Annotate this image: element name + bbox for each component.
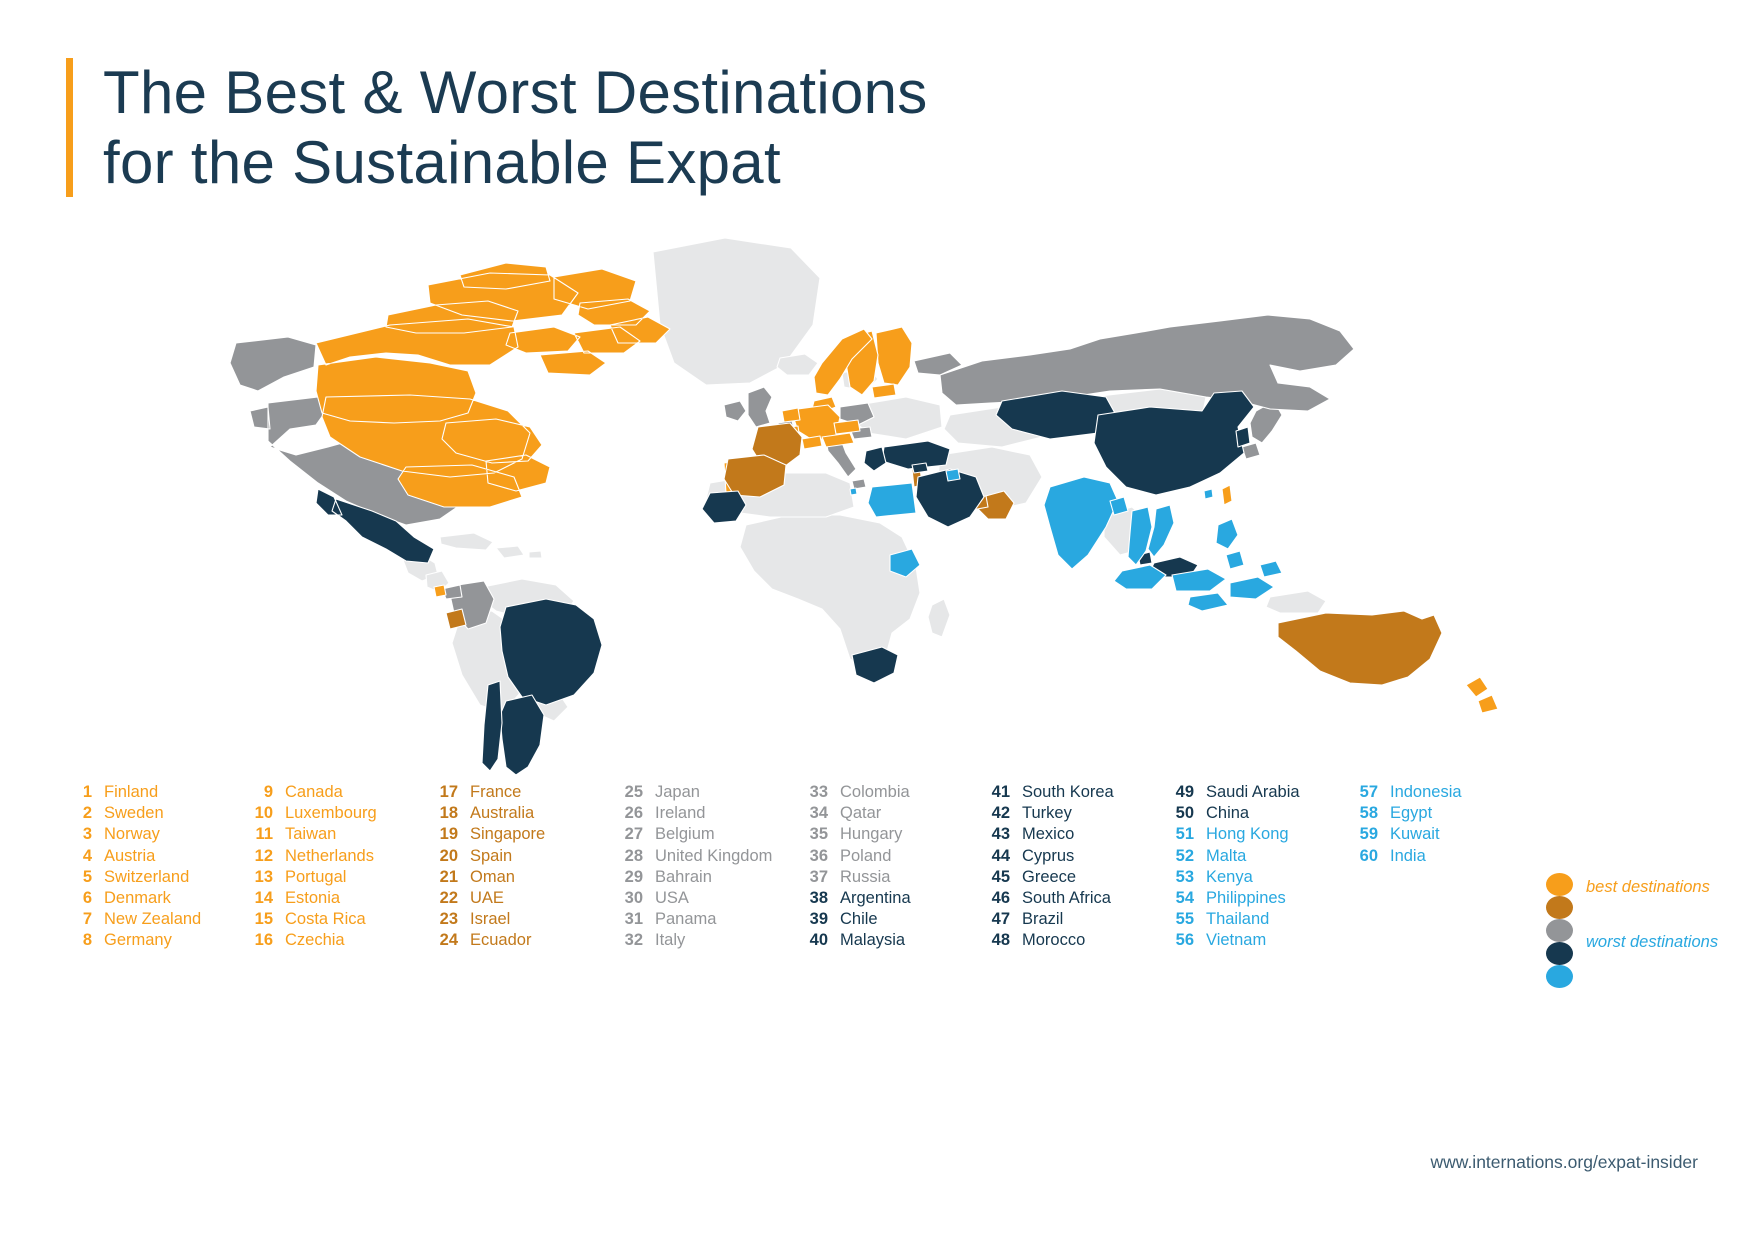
ranking-row[interactable]: 44Cyprus bbox=[984, 846, 1114, 867]
ranking-country-name: Spain bbox=[470, 846, 512, 867]
ranking-country-name: Israel bbox=[470, 909, 510, 930]
country-czechia bbox=[834, 420, 860, 434]
tier-worst-dot bbox=[1546, 965, 1573, 988]
ranking-row[interactable]: 19Singapore bbox=[432, 824, 545, 845]
ranking-number: 13 bbox=[247, 867, 273, 888]
ranking-row[interactable]: 14Estonia bbox=[247, 888, 377, 909]
ranking-number: 15 bbox=[247, 909, 273, 930]
ranking-number: 21 bbox=[432, 867, 458, 888]
country-puerto-rico bbox=[529, 551, 542, 558]
ranking-row[interactable]: 55Thailand bbox=[1168, 909, 1300, 930]
world-choropleth-map bbox=[150, 215, 1610, 775]
tier-bad-dot bbox=[1546, 942, 1573, 965]
ranking-column-4: 25Japan26Ireland27Belgium28United Kingdo… bbox=[617, 782, 772, 952]
ranking-country-name: Kuwait bbox=[1390, 824, 1440, 845]
ranking-country-name: France bbox=[470, 782, 521, 803]
country-vietnam bbox=[1148, 505, 1174, 557]
ranking-country-name: Philippines bbox=[1206, 888, 1286, 909]
ranking-number: 53 bbox=[1168, 867, 1194, 888]
country-cyprus bbox=[912, 463, 928, 473]
ranking-row[interactable]: 52Malta bbox=[1168, 846, 1300, 867]
ranking-number: 10 bbox=[247, 803, 273, 824]
ranking-column-7: 49Saudi Arabia50China51Hong Kong52Malta5… bbox=[1168, 782, 1300, 952]
ranking-country-name: Argentina bbox=[840, 888, 911, 909]
ranking-country-name: Luxembourg bbox=[285, 803, 377, 824]
ranking-number: 22 bbox=[432, 888, 458, 909]
ranking-row[interactable]: 21Oman bbox=[432, 867, 545, 888]
ranking-country-name: Italy bbox=[655, 930, 685, 951]
ranking-row[interactable]: 32Italy bbox=[617, 930, 772, 951]
ranking-number: 54 bbox=[1168, 888, 1194, 909]
ranking-number: 7 bbox=[66, 909, 92, 930]
ranking-row[interactable]: 33Colombia bbox=[802, 782, 911, 803]
ranking-country-name: Costa Rica bbox=[285, 909, 366, 930]
ranking-country-name: Netherlands bbox=[285, 846, 374, 867]
country-africa-unranked bbox=[740, 515, 920, 669]
ranking-row[interactable]: 18Australia bbox=[432, 803, 545, 824]
ranking-row[interactable]: 40Malaysia bbox=[802, 930, 911, 951]
ranking-number: 12 bbox=[247, 846, 273, 867]
ranking-row[interactable]: 57Indonesia bbox=[1352, 782, 1462, 803]
ranking-number: 58 bbox=[1352, 803, 1378, 824]
ranking-number: 5 bbox=[66, 867, 92, 888]
ranking-number: 31 bbox=[617, 909, 643, 930]
ranking-row[interactable]: 53Kenya bbox=[1168, 867, 1300, 888]
ranking-country-name: Malta bbox=[1206, 846, 1246, 867]
country-united-kingdom bbox=[748, 387, 772, 427]
ranking-number: 51 bbox=[1168, 824, 1194, 845]
ranking-number: 35 bbox=[802, 824, 828, 845]
ranking-number: 60 bbox=[1352, 846, 1378, 867]
ranking-country-name: South Korea bbox=[1022, 782, 1114, 803]
ranking-number: 48 bbox=[984, 930, 1010, 951]
country-switzerland bbox=[802, 436, 822, 449]
country-netherlands bbox=[782, 408, 800, 422]
ranking-row[interactable]: 22UAE bbox=[432, 888, 545, 909]
legend-dot-stack bbox=[1546, 873, 1574, 988]
ranking-row[interactable]: 37Russia bbox=[802, 867, 911, 888]
country-finland bbox=[876, 327, 912, 385]
ranking-row[interactable]: 31Panama bbox=[617, 909, 772, 930]
legend-label-worst: worst destinations bbox=[1586, 933, 1718, 952]
ranking-row[interactable]: 54Philippines bbox=[1168, 888, 1300, 909]
ranking-number: 41 bbox=[984, 782, 1010, 803]
ranking-row[interactable]: 41South Korea bbox=[984, 782, 1114, 803]
country-greece bbox=[864, 447, 886, 471]
ranking-country-name: Switzerland bbox=[104, 867, 189, 888]
ranking-country-name: Ecuador bbox=[470, 930, 531, 951]
ranking-column-2: 9Canada10Luxembourg11Taiwan12Netherlands… bbox=[247, 782, 377, 952]
country-egypt bbox=[868, 483, 916, 517]
ranking-number: 55 bbox=[1168, 909, 1194, 930]
ranking-number: 42 bbox=[984, 803, 1010, 824]
ranking-row[interactable]: 43Mexico bbox=[984, 824, 1114, 845]
ranking-number: 33 bbox=[802, 782, 828, 803]
ranking-country-name: Sweden bbox=[104, 803, 164, 824]
ranking-country-name: Brazil bbox=[1022, 909, 1063, 930]
ranking-country-name: Vietnam bbox=[1206, 930, 1266, 951]
ranking-number: 32 bbox=[617, 930, 643, 951]
ranking-country-name: Singapore bbox=[470, 824, 545, 845]
ranking-number: 29 bbox=[617, 867, 643, 888]
ranking-number: 56 bbox=[1168, 930, 1194, 951]
ranking-country-name: Turkey bbox=[1022, 803, 1072, 824]
country-philippines bbox=[1216, 519, 1244, 569]
ranking-country-name: United Kingdom bbox=[655, 846, 772, 867]
ranking-country-name: Hungary bbox=[840, 824, 902, 845]
ranking-number: 40 bbox=[802, 930, 828, 951]
ranking-row[interactable]: 1Finland bbox=[66, 782, 201, 803]
ranking-row[interactable]: 8Germany bbox=[66, 930, 201, 951]
ranking-row[interactable]: 4Austria bbox=[66, 846, 201, 867]
ranking-country-name: Poland bbox=[840, 846, 891, 867]
tier-good-dot bbox=[1546, 896, 1573, 919]
country-iceland bbox=[777, 354, 818, 375]
ranking-country-name: Japan bbox=[655, 782, 700, 803]
ranking-country-name: Oman bbox=[470, 867, 515, 888]
ranking-number: 38 bbox=[802, 888, 828, 909]
ranking-row[interactable]: 10Luxembourg bbox=[247, 803, 377, 824]
country-cuba bbox=[440, 533, 493, 550]
country-ecuador bbox=[446, 609, 466, 629]
ranking-country-name: Germany bbox=[104, 930, 172, 951]
ranking-country-name: Thailand bbox=[1206, 909, 1269, 930]
ranking-row[interactable]: 51Hong Kong bbox=[1168, 824, 1300, 845]
ranking-country-name: Malaysia bbox=[840, 930, 905, 951]
ranking-country-name: Hong Kong bbox=[1206, 824, 1289, 845]
ranking-column-3: 17France18Australia19Singapore20Spain21O… bbox=[432, 782, 545, 952]
ranking-country-name: India bbox=[1390, 846, 1426, 867]
world-map-container bbox=[150, 215, 1610, 775]
ranking-country-name: Qatar bbox=[840, 803, 881, 824]
country-costa-rica bbox=[434, 585, 446, 597]
country-madagascar bbox=[928, 599, 950, 637]
ranking-row[interactable]: 23Israel bbox=[432, 909, 545, 930]
ranking-number: 36 bbox=[802, 846, 828, 867]
ranking-row[interactable]: 13Portugal bbox=[247, 867, 377, 888]
country-taiwan bbox=[1222, 485, 1232, 505]
country-australia bbox=[1278, 611, 1442, 685]
ranking-country-name: Chile bbox=[840, 909, 878, 930]
ranking-number: 25 bbox=[617, 782, 643, 803]
ranking-country-name: Greece bbox=[1022, 867, 1076, 888]
ranking-number: 43 bbox=[984, 824, 1010, 845]
ranking-row[interactable]: 16Czechia bbox=[247, 930, 377, 951]
ranking-row[interactable]: 11Taiwan bbox=[247, 824, 377, 845]
ranking-row[interactable]: 45Greece bbox=[984, 867, 1114, 888]
ranking-row[interactable]: 20Spain bbox=[432, 846, 545, 867]
ranking-country-name: Canada bbox=[285, 782, 343, 803]
ranking-country-name: Belgium bbox=[655, 824, 715, 845]
tier-mid-dot bbox=[1546, 919, 1573, 942]
ranking-number: 37 bbox=[802, 867, 828, 888]
country-argentina bbox=[500, 695, 544, 775]
ranking-country-name: Russia bbox=[840, 867, 890, 888]
country-hong-kong bbox=[1204, 489, 1213, 499]
ranking-country-name: Australia bbox=[470, 803, 534, 824]
ranking-number: 6 bbox=[66, 888, 92, 909]
ranking-number: 14 bbox=[247, 888, 273, 909]
country-usa-alaska bbox=[230, 337, 316, 391]
ranking-number: 18 bbox=[432, 803, 458, 824]
ranking-country-name: Egypt bbox=[1390, 803, 1432, 824]
ranking-number: 44 bbox=[984, 846, 1010, 867]
country-bangladesh bbox=[1110, 497, 1128, 515]
ranking-number: 23 bbox=[432, 909, 458, 930]
ranking-list: 1Finland2Sweden3Norway4Austria5Switzerla… bbox=[0, 782, 1754, 962]
ranking-country-name: Indonesia bbox=[1390, 782, 1462, 803]
ranking-number: 39 bbox=[802, 909, 828, 930]
map-legend: best destinations worst destinations bbox=[1546, 873, 1746, 957]
ranking-country-name: Portugal bbox=[285, 867, 346, 888]
ranking-column-5: 33Colombia34Qatar35Hungary36Poland37Russ… bbox=[802, 782, 911, 952]
ranking-number: 20 bbox=[432, 846, 458, 867]
ranking-row[interactable]: 29Bahrain bbox=[617, 867, 772, 888]
ranking-row[interactable]: 24Ecuador bbox=[432, 930, 545, 951]
ranking-country-name: USA bbox=[655, 888, 689, 909]
ranking-number: 4 bbox=[66, 846, 92, 867]
ranking-row[interactable]: 39Chile bbox=[802, 909, 911, 930]
ranking-number: 52 bbox=[1168, 846, 1194, 867]
ranking-number: 24 bbox=[432, 930, 458, 951]
ranking-number: 28 bbox=[617, 846, 643, 867]
ranking-number: 34 bbox=[802, 803, 828, 824]
ranking-number: 59 bbox=[1352, 824, 1378, 845]
country-morocco bbox=[702, 491, 746, 523]
ranking-row[interactable]: 15Costa Rica bbox=[247, 909, 377, 930]
ranking-country-name: Bahrain bbox=[655, 867, 712, 888]
ranking-number: 49 bbox=[1168, 782, 1194, 803]
ranking-country-name: UAE bbox=[470, 888, 504, 909]
ranking-country-name: Mexico bbox=[1022, 824, 1074, 845]
ranking-country-name: Cyprus bbox=[1022, 846, 1074, 867]
ranking-number: 30 bbox=[617, 888, 643, 909]
ranking-number: 16 bbox=[247, 930, 273, 951]
ranking-row[interactable]: 17France bbox=[432, 782, 545, 803]
ranking-country-name: Kenya bbox=[1206, 867, 1253, 888]
ranking-row[interactable]: 38Argentina bbox=[802, 888, 911, 909]
tier-best-dot bbox=[1546, 873, 1573, 896]
country-south-korea bbox=[1236, 427, 1250, 447]
ranking-row[interactable]: 49Saudi Arabia bbox=[1168, 782, 1300, 803]
ranking-row[interactable]: 35Hungary bbox=[802, 824, 911, 845]
ranking-number: 19 bbox=[432, 824, 458, 845]
country-kuwait bbox=[946, 469, 960, 481]
ranking-number: 17 bbox=[432, 782, 458, 803]
ranking-row[interactable]: 34Qatar bbox=[802, 803, 911, 824]
country-ireland bbox=[724, 401, 746, 421]
ranking-row[interactable]: 25Japan bbox=[617, 782, 772, 803]
ranking-column-8: 57Indonesia58Egypt59Kuwait60India bbox=[1352, 782, 1462, 867]
ranking-number: 9 bbox=[247, 782, 273, 803]
ranking-number: 26 bbox=[617, 803, 643, 824]
country-malta bbox=[850, 488, 857, 495]
ranking-country-name: Taiwan bbox=[285, 824, 336, 845]
ranking-number: 45 bbox=[984, 867, 1010, 888]
country-india bbox=[1044, 477, 1118, 569]
ranking-row[interactable]: 30USA bbox=[617, 888, 772, 909]
ranking-number: 47 bbox=[984, 909, 1010, 930]
ranking-row[interactable]: 6Denmark bbox=[66, 888, 201, 909]
ranking-row[interactable]: 58Egypt bbox=[1352, 803, 1462, 824]
ranking-row[interactable]: 2Sweden bbox=[66, 803, 201, 824]
ranking-country-name: New Zealand bbox=[104, 909, 201, 930]
title-accent-rule bbox=[66, 58, 73, 197]
ranking-row[interactable]: 48Morocco bbox=[984, 930, 1114, 951]
ranking-column-1: 1Finland2Sweden3Norway4Austria5Switzerla… bbox=[66, 782, 201, 952]
ranking-number: 57 bbox=[1352, 782, 1378, 803]
ranking-number: 46 bbox=[984, 888, 1010, 909]
ranking-row[interactable]: 56Vietnam bbox=[1168, 930, 1300, 951]
country-hispaniola bbox=[496, 546, 524, 558]
ranking-row[interactable]: 12Netherlands bbox=[247, 846, 377, 867]
ranking-row[interactable]: 47Brazil bbox=[984, 909, 1114, 930]
ranking-country-name: Denmark bbox=[104, 888, 171, 909]
ranking-number: 11 bbox=[247, 824, 273, 845]
ranking-number: 8 bbox=[66, 930, 92, 951]
ranking-country-name: South Africa bbox=[1022, 888, 1111, 909]
ranking-country-name: Colombia bbox=[840, 782, 910, 803]
ranking-row[interactable]: 59Kuwait bbox=[1352, 824, 1462, 845]
ranking-country-name: China bbox=[1206, 803, 1249, 824]
country-new-zealand bbox=[1466, 677, 1498, 713]
ranking-country-name: Ireland bbox=[655, 803, 705, 824]
ranking-number: 3 bbox=[66, 824, 92, 845]
footer-url: www.internations.org/expat-insider bbox=[0, 1152, 1698, 1173]
ranking-row[interactable]: 42Turkey bbox=[984, 803, 1114, 824]
ranking-country-name: Norway bbox=[104, 824, 160, 845]
ranking-row[interactable]: 7New Zealand bbox=[66, 909, 201, 930]
ranking-country-name: Estonia bbox=[285, 888, 340, 909]
ranking-number: 1 bbox=[66, 782, 92, 803]
ranking-row[interactable]: 5Switzerland bbox=[66, 867, 201, 888]
legend-label-best: best destinations bbox=[1586, 878, 1710, 897]
ranking-row[interactable]: 26Ireland bbox=[617, 803, 772, 824]
ranking-number: 2 bbox=[66, 803, 92, 824]
ranking-country-name: Austria bbox=[104, 846, 155, 867]
ranking-row[interactable]: 3Norway bbox=[66, 824, 201, 845]
country-estonia bbox=[872, 384, 896, 398]
ranking-row[interactable]: 28United Kingdom bbox=[617, 846, 772, 867]
ranking-row[interactable]: 9Canada bbox=[247, 782, 377, 803]
ranking-row[interactable]: 27Belgium bbox=[617, 824, 772, 845]
ranking-row[interactable]: 50China bbox=[1168, 803, 1300, 824]
ranking-row[interactable]: 60India bbox=[1352, 846, 1462, 867]
ranking-row[interactable]: 46South Africa bbox=[984, 888, 1114, 909]
ranking-country-name: Finland bbox=[104, 782, 158, 803]
ranking-number: 50 bbox=[1168, 803, 1194, 824]
ranking-number: 27 bbox=[617, 824, 643, 845]
ranking-country-name: Morocco bbox=[1022, 930, 1085, 951]
country-indonesia bbox=[1114, 561, 1282, 611]
ranking-row[interactable]: 36Poland bbox=[802, 846, 911, 867]
country-papua-new-guinea bbox=[1266, 591, 1326, 613]
ranking-country-name: Panama bbox=[655, 909, 716, 930]
page-title: The Best & Worst Destinations for the Su… bbox=[103, 58, 928, 197]
page-title-block: The Best & Worst Destinations for the Su… bbox=[66, 58, 928, 197]
ranking-country-name: Saudi Arabia bbox=[1206, 782, 1300, 803]
ranking-country-name: Czechia bbox=[285, 930, 345, 951]
ranking-column-6: 41South Korea42Turkey43Mexico44Cyprus45G… bbox=[984, 782, 1114, 952]
